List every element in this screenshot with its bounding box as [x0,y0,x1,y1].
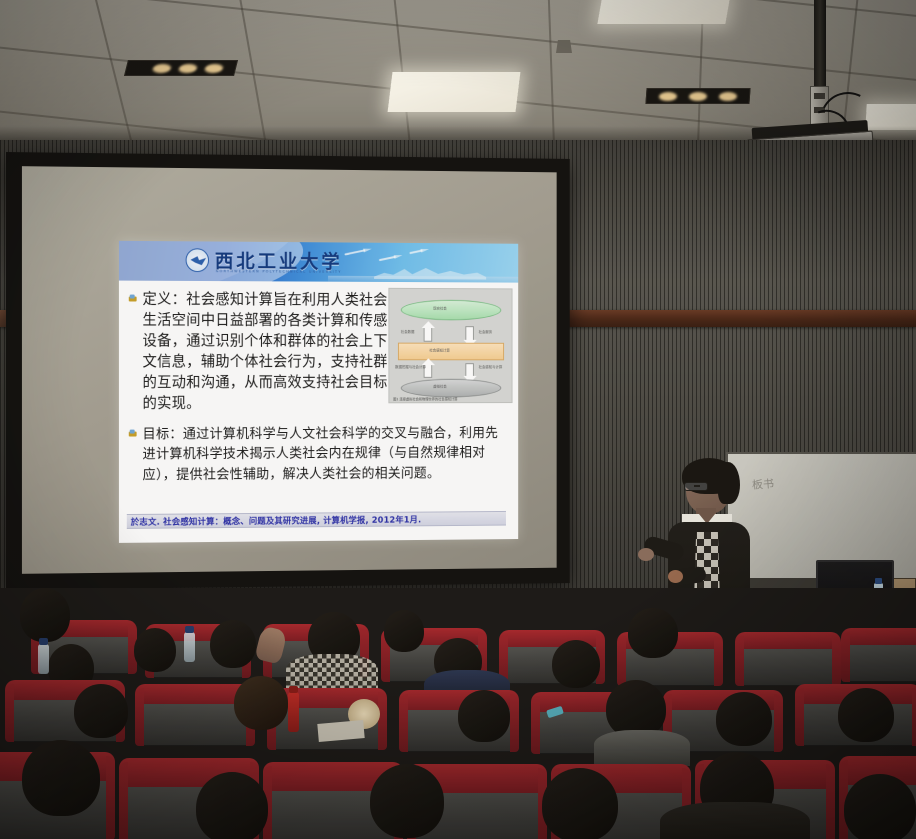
student-head [234,676,288,730]
student-head [20,588,70,642]
jet-icon [379,256,396,261]
student-head [370,764,444,838]
seat [846,632,916,682]
figure-node-top [401,300,501,321]
figure-arrow-down [465,326,474,342]
slide-citation-bar: 於志文. 社会感知计算：概念、问题及其研究进展, 计算机学报, 2012年1月. [127,511,506,529]
projection-screen-frame: 西北工业大学 NORTHWESTERN POLYTECHNICAL UNIVER… [6,152,570,590]
citation-text: 於志文. 社会感知计算：概念、问题及其研究进展, 计算机学报, 2012年1月. [127,513,422,527]
water-bottle [288,692,299,732]
student-head [210,620,256,668]
presenter-hair [718,462,740,504]
presenter-right-hand [668,570,683,583]
ceiling [0,0,916,152]
smoke-detector-icon [556,40,572,53]
student-head [384,610,424,652]
figure-arrow-label-right-bottom: 社会感知与计算 [479,365,503,370]
bullet-goal: 目标：通过计算机科学与人文社会科学的交叉与融合，利用先进计算机科学技术揭示人类社… [127,422,509,484]
water-bottle [38,644,49,674]
student-shoulders [660,802,810,839]
seat [140,688,250,746]
water-bottle [184,632,195,662]
slide-body: 定义：社会感知计算旨在利用人类社会生活空间中日益部署的各类计算和传感设备，通过识… [119,281,518,543]
student-head [196,772,268,839]
university-subtitle: NORTHWESTERN POLYTECHNICAL UNIVERSITY [216,269,342,274]
student-head [458,690,510,742]
recessed-light [645,88,750,104]
figure-arrow-label-left-bottom: 数据挖掘与社会计算 [395,365,426,370]
projection-screen-surface: 西北工业大学 NORTHWESTERN POLYTECHNICAL UNIVER… [22,166,557,574]
jet-icon [409,249,422,254]
figure-node-middle [398,343,504,361]
slide-header-banner: 西北工业大学 NORTHWESTERN POLYTECHNICAL UNIVER… [119,241,518,283]
bullet-marker-icon [129,295,138,304]
figure-arrow-down [465,363,474,378]
jet-icon [344,249,365,255]
figure-node-bottom-label: 虚拟社会 [433,385,447,390]
student-head [628,608,678,658]
eyeglasses-icon [684,482,708,491]
bullet-marker-icon [129,429,138,438]
panel-light [597,0,730,24]
student-head [74,684,128,738]
figure-arrow-up [424,326,433,342]
lecture-hall-photo: 板书 西北工业大学 NORTHWESTERN POLYTEC [0,0,916,839]
slide-figure: 现实社会 社会数据 社会服务 社会感知计算 数据挖掘与社会计算 社会感知与计算 … [388,288,512,403]
student-head [22,740,100,816]
student-head [838,688,894,742]
presentation-slide: 西北工业大学 NORTHWESTERN POLYTECHNICAL UNIVER… [119,241,518,543]
presenter-left-hand [638,548,654,561]
figure-arrow-label-left: 社会数据 [401,330,415,335]
bottle-cap-icon [875,578,882,584]
figure-node-bottom [401,379,501,398]
audience-seating [0,588,916,839]
ship-silhouette-icon [374,266,486,279]
seat [740,636,836,686]
panel-light [388,72,521,112]
student-head [844,774,916,839]
figure-arrow-label-right: 社会服务 [479,330,493,335]
recessed-light [124,60,238,76]
student-head [552,640,600,688]
student-head [716,692,772,746]
figure-caption: 图1 连接虚拟社会和物理世界的社会感知计算 [393,396,457,401]
figure-node-middle-label: 社会感知计算 [429,349,449,354]
student-head [542,768,618,839]
student-shoulders [594,730,690,766]
goal-text: 目标：通过计算机科学与人文社会科学的交叉与融合，利用先进计算机科学技术揭示人类社… [143,426,499,483]
university-emblem-icon [186,248,209,272]
figure-node-top-label: 现实社会 [433,307,447,312]
student-head [134,628,176,672]
